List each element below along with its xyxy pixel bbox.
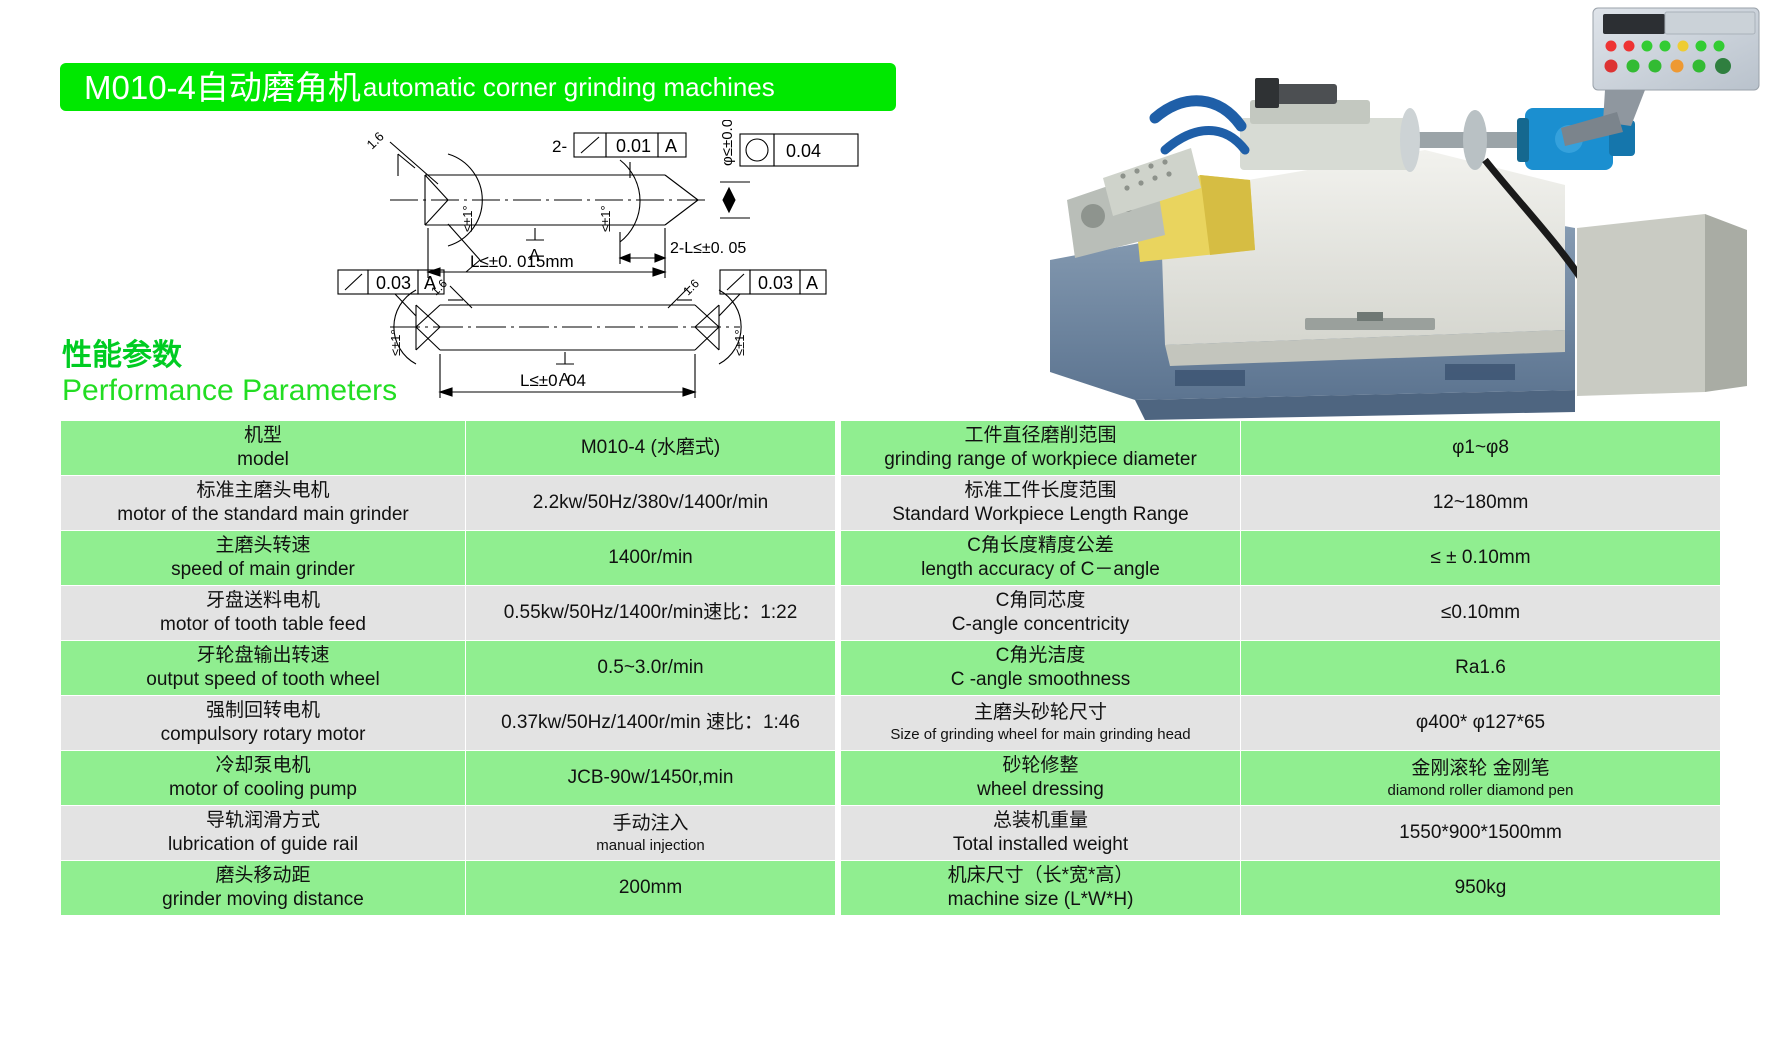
row-label-en: wheel dressing (847, 778, 1234, 802)
row-value-cn: 手动注入 (472, 812, 829, 836)
row-label: C角同芯度 C-angle concentricity (841, 586, 1241, 641)
row-value-text: 1400r/min (472, 546, 829, 570)
row-label-en: output speed of tooth wheel (67, 668, 459, 692)
row-value: M010-4 (水磨式) (466, 421, 836, 476)
row-value: 2.2kw/50Hz/380v/1400r/min (466, 476, 836, 531)
row-label-en: C-angle concentricity (847, 613, 1234, 637)
drawing-end-dim: 2-L≤±0. 05 (670, 240, 746, 257)
title-english: automatic corner grinding machines (363, 74, 775, 100)
table-row: C角长度精度公差 length accuracy of C－angle ≤ ± … (841, 531, 1721, 586)
row-value-text: 200mm (472, 876, 829, 900)
table-row: 机型 model M010-4 (水磨式) (61, 421, 836, 476)
row-value-text: M010-4 (水磨式) (472, 436, 829, 460)
drawing-roughness-left: 1.6 (364, 129, 387, 152)
row-value: ≤0.10mm (1241, 586, 1721, 641)
title-chinese: M010-4自动磨角机 (84, 71, 361, 104)
table-row: 标准工件长度范围 Standard Workpiece Length Range… (841, 476, 1721, 531)
row-label-cn: 冷却泵电机 (67, 754, 459, 778)
drawing-dia-tolerance: φ≤±0.05 (719, 120, 736, 166)
row-label: 主磨头砂轮尺寸 Size of grinding wheel for main … (841, 696, 1241, 751)
table-row: 主磨头转速 speed of main grinder 1400r/min (61, 531, 836, 586)
row-value: 0.55kw/50Hz/1400r/min速比：1:22 (466, 586, 836, 641)
row-label: 导轨润滑方式 lubrication of guide rail (61, 806, 466, 861)
table-row: 标准主磨头电机 motor of the standard main grind… (61, 476, 836, 531)
table-row: 工件直径磨削范围 grinding range of workpiece dia… (841, 421, 1721, 476)
row-value: φ1~φ8 (1241, 421, 1721, 476)
drawing-angle-left: ≤±1° (460, 205, 475, 232)
table-row: C角同芯度 C-angle concentricity ≤0.10mm (841, 586, 1721, 641)
row-label-cn: C角光洁度 (847, 644, 1234, 668)
row-label-en: grinder moving distance (67, 888, 459, 912)
spindle-housing (1240, 118, 1410, 170)
table-row: 冷却泵电机 motor of cooling pump JCB-90w/1450… (61, 751, 836, 806)
row-value-text: φ1~φ8 (1247, 436, 1714, 460)
row-label-en: motor of tooth table feed (67, 613, 459, 637)
row-value: 0.37kw/50Hz/1400r/min 速比：1:46 (466, 696, 836, 751)
right-cabinet (1577, 214, 1705, 396)
row-value: ≤ ± 0.10mm (1241, 531, 1721, 586)
row-label: 主磨头转速 speed of main grinder (61, 531, 466, 586)
drawing-gdt-right-tolerance: 0.03 (758, 273, 793, 293)
row-label-cn: C角长度精度公差 (847, 534, 1234, 558)
row-label-cn: C角同芯度 (847, 589, 1234, 613)
coolant-hose (1155, 101, 1241, 126)
technical-drawing: 1.6 ≤±1° ≤±1° 2- 0.01 A φ≤±0.05 0.04 A L… (320, 120, 880, 400)
row-label-cn: 标准工件长度范围 (847, 479, 1234, 503)
row-value: 1550*900*1500mm (1241, 806, 1721, 861)
row-label-cn: 磨头移动距 (67, 864, 459, 888)
drawing-gdt-count: 2- (552, 137, 567, 156)
row-value: φ400* φ127*65 (1241, 696, 1721, 751)
table-row: 总装机重量 Total installed weight 1550*900*15… (841, 806, 1721, 861)
row-label: 标准主磨头电机 motor of the standard main grind… (61, 476, 466, 531)
drawing-gdt-left-tolerance: 0.03 (376, 273, 411, 293)
row-label-cn: 机型 (67, 424, 459, 448)
row-label-en: C -angle smoothness (847, 668, 1234, 692)
row-label-cn: 主磨头砂轮尺寸 (847, 701, 1234, 725)
row-label: 工件直径磨削范围 grinding range of workpiece dia… (841, 421, 1241, 476)
row-label-cn: 导轨润滑方式 (67, 809, 459, 833)
row-value-text: JCB-90w/1450r,min (472, 766, 829, 790)
table-row: 砂轮修整 wheel dressing 金刚滚轮 金刚笔 diamond rol… (841, 751, 1721, 806)
spec-table-left: 机型 model M010-4 (水磨式) 标准主磨头电机 motor of t… (60, 420, 836, 916)
table-row: 强制回转电机 compulsory rotary motor 0.37kw/50… (61, 696, 836, 751)
row-label: C角长度精度公差 length accuracy of C－angle (841, 531, 1241, 586)
drawing-angle-right: ≤±1° (598, 205, 613, 232)
machine-photo (1005, 0, 1780, 425)
row-label-en: machine size (L*W*H) (847, 888, 1234, 912)
drawing-length-dim-top: L≤±0. 015mm (470, 252, 574, 271)
drawing-roughness-bottom-right: 1.6 (680, 276, 702, 298)
row-label-cn: 主磨头转速 (67, 534, 459, 558)
drawing-circle-tolerance: 0.04 (786, 141, 821, 161)
table-row: 机床尺寸（长*宽*高） machine size (L*W*H) 950kg (841, 861, 1721, 916)
row-label-en: motor of cooling pump (67, 778, 459, 802)
table-row: 牙盘送料电机 motor of tooth table feed 0.55kw/… (61, 586, 836, 641)
row-value: 12~180mm (1241, 476, 1721, 531)
row-value-text: ≤ ± 0.10mm (1247, 546, 1714, 570)
row-value-text: Ra1.6 (1247, 656, 1714, 680)
drawing-gdt-tolerance: 0.01 (616, 136, 651, 156)
table-row: C角光洁度 C -angle smoothness Ra1.6 (841, 641, 1721, 696)
row-label: 牙盘送料电机 motor of tooth table feed (61, 586, 466, 641)
row-value-text: 12~180mm (1247, 491, 1714, 515)
drawing-angle-bottom-left: ≤±1° (388, 329, 403, 356)
row-label-cn: 牙盘送料电机 (67, 589, 459, 613)
row-value-text: 0.55kw/50Hz/1400r/min速比：1:22 (472, 601, 829, 625)
row-label-en: Size of grinding wheel for main grinding… (847, 725, 1234, 745)
row-value: 950kg (1241, 861, 1721, 916)
table-row: 主磨头砂轮尺寸 Size of grinding wheel for main … (841, 696, 1721, 751)
row-label-en: speed of main grinder (67, 558, 459, 582)
row-label-cn: 标准主磨头电机 (67, 479, 459, 503)
row-value-text: 1550*900*1500mm (1247, 821, 1714, 845)
row-value-text: 0.5~3.0r/min (472, 656, 829, 680)
row-label-cn: 强制回转电机 (67, 699, 459, 723)
drawing-gdt-right-datum: A (806, 273, 818, 293)
row-label: 机床尺寸（长*宽*高） machine size (L*W*H) (841, 861, 1241, 916)
row-label: 砂轮修整 wheel dressing (841, 751, 1241, 806)
row-label: C角光洁度 C -angle smoothness (841, 641, 1241, 696)
row-value: Ra1.6 (1241, 641, 1721, 696)
row-label: 总装机重量 Total installed weight (841, 806, 1241, 861)
row-value-text: ≤0.10mm (1247, 601, 1714, 625)
row-label-en: grinding range of workpiece diameter (847, 448, 1234, 472)
row-value: 0.5~3.0r/min (466, 641, 836, 696)
row-label: 牙轮盘输出转速 output speed of tooth wheel (61, 641, 466, 696)
table-row: 导轨润滑方式 lubrication of guide rail 手动注入 ma… (61, 806, 836, 861)
row-label-en: lubrication of guide rail (67, 833, 459, 857)
row-label-cn: 牙轮盘输出转速 (67, 644, 459, 668)
row-value-text: 2.2kw/50Hz/380v/1400r/min (472, 491, 829, 515)
row-label-cn: 工件直径磨削范围 (847, 424, 1234, 448)
row-label: 冷却泵电机 motor of cooling pump (61, 751, 466, 806)
row-value: 200mm (466, 861, 836, 916)
row-label: 机型 model (61, 421, 466, 476)
row-label-cn: 砂轮修整 (847, 754, 1234, 778)
row-label-cn: 机床尺寸（长*宽*高） (847, 864, 1234, 888)
row-value-text: φ400* φ127*65 (1247, 711, 1714, 735)
row-value-text: 950kg (1247, 876, 1714, 900)
row-value: 金刚滚轮 金刚笔 diamond roller diamond pen (1241, 751, 1721, 806)
row-value: JCB-90w/1450r,min (466, 751, 836, 806)
row-value-en: diamond roller diamond pen (1247, 781, 1714, 800)
row-value: 1400r/min (466, 531, 836, 586)
row-value-en: manual injection (472, 836, 829, 855)
row-label-en: compulsory rotary motor (67, 723, 459, 747)
title-banner: M010-4自动磨角机 automatic corner grinding ma… (60, 63, 896, 111)
row-value: 手动注入 manual injection (466, 806, 836, 861)
row-value-cn: 金刚滚轮 金刚笔 (1247, 757, 1714, 781)
row-label-en: motor of the standard main grinder (67, 503, 459, 527)
table-row: 磨头移动距 grinder moving distance 200mm (61, 861, 836, 916)
row-label-en: Total installed weight (847, 833, 1234, 857)
row-label-cn: 总装机重量 (847, 809, 1234, 833)
row-label-en: model (67, 448, 459, 472)
table-row: 牙轮盘输出转速 output speed of tooth wheel 0.5~… (61, 641, 836, 696)
row-label: 磨头移动距 grinder moving distance (61, 861, 466, 916)
row-label-en: length accuracy of C－angle (847, 558, 1234, 582)
drawing-length-dim-bottom: L≤±0. 04 (520, 371, 586, 390)
row-value-text: 0.37kw/50Hz/1400r/min 速比：1:46 (472, 711, 829, 735)
drawing-gdt-datum: A (665, 136, 677, 156)
drawing-angle-bottom-right: ≤±1° (732, 329, 747, 356)
spec-table-right: 工件直径磨削范围 grinding range of workpiece dia… (840, 420, 1721, 916)
row-label: 标准工件长度范围 Standard Workpiece Length Range (841, 476, 1241, 531)
row-label-en: Standard Workpiece Length Range (847, 503, 1234, 527)
row-label: 强制回转电机 compulsory rotary motor (61, 696, 466, 751)
